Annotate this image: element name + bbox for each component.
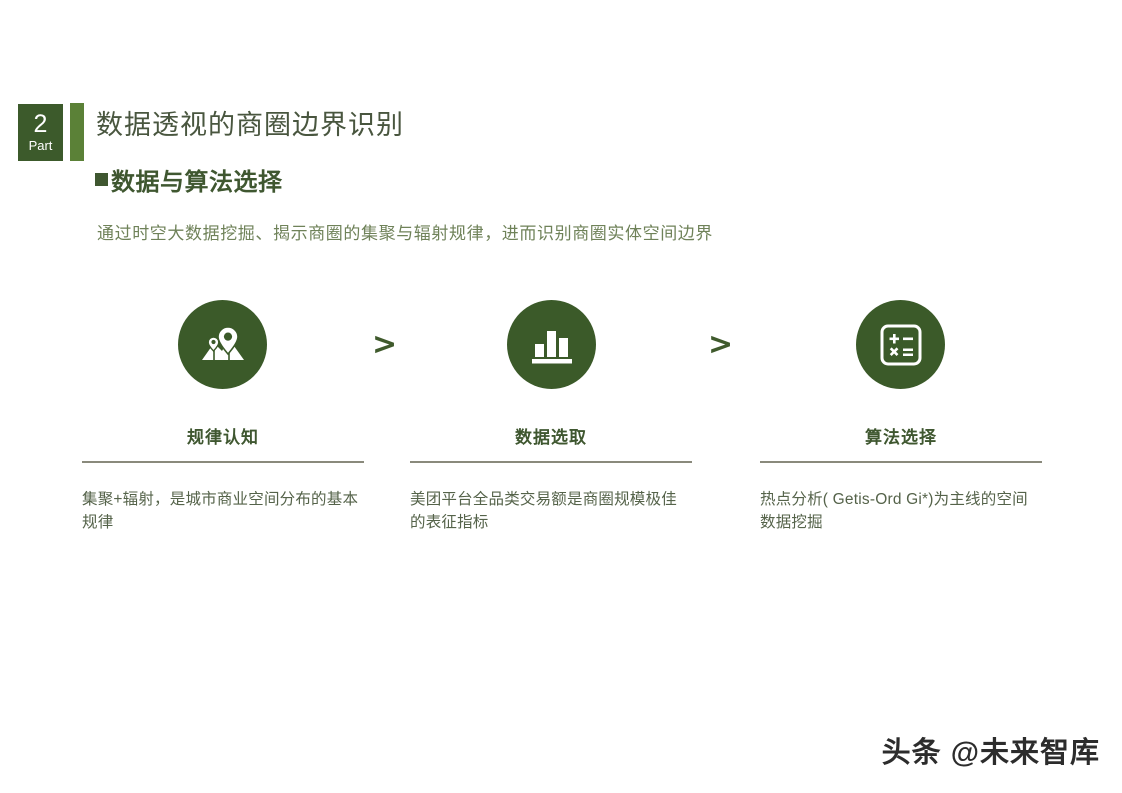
part-number: 2 <box>34 112 48 137</box>
section-heading-label: 数据与算法选择 <box>111 162 283 197</box>
step-column-2: 数据选取 美团平台全品类交易额是商圈规模极佳的表征指标 <box>410 428 692 534</box>
slide-canvas: 2 Part 数据透视的商圈边界识别 数据与算法选择 通过时空大数据挖掘、揭示商… <box>0 0 1122 793</box>
part-label: Part <box>29 139 53 152</box>
step-circle-3 <box>856 300 945 389</box>
part-accent-bar <box>70 103 84 161</box>
step-column-3: 算法选择 热点分析( Getis-Ord Gi*)为主线的空间数据挖掘 <box>760 428 1042 534</box>
section-heading: 数据与算法选择 <box>95 162 283 197</box>
step-title-3: 算法选择 <box>760 428 1042 448</box>
step-icon-row: > > <box>0 300 1122 410</box>
step-arrow-2: > <box>708 330 733 360</box>
watermark: 头条 @未来智库 <box>882 729 1100 771</box>
step-body-1: 集聚+辐射，是城市商业空间分布的基本规律 <box>82 489 364 534</box>
square-bullet-icon <box>95 173 108 186</box>
step-body-3: 热点分析( Getis-Ord Gi*)为主线的空间数据挖掘 <box>760 489 1042 534</box>
step-title-2: 数据选取 <box>410 428 692 448</box>
page-title: 数据透视的商圈边界识别 <box>96 103 404 142</box>
step-circle-2 <box>507 300 596 389</box>
step-title-1: 规律认知 <box>82 428 364 448</box>
calculator-icon <box>878 322 924 368</box>
lead-description: 通过时空大数据挖掘、揭示商圈的集聚与辐射规律，进而识别商圈实体空间边界 <box>97 219 713 244</box>
step-body-2: 美团平台全品类交易额是商圈规模极佳的表征指标 <box>410 489 692 534</box>
map-pin-icon <box>198 325 248 365</box>
step-divider-3 <box>760 461 1042 463</box>
step-divider-2 <box>410 461 692 463</box>
step-circle-1 <box>178 300 267 389</box>
step-column-1: 规律认知 集聚+辐射，是城市商业空间分布的基本规律 <box>82 428 364 534</box>
step-divider-1 <box>82 461 364 463</box>
part-badge: 2 Part <box>18 104 63 161</box>
bar-chart-icon <box>529 324 575 366</box>
step-arrow-1: > <box>372 330 397 360</box>
